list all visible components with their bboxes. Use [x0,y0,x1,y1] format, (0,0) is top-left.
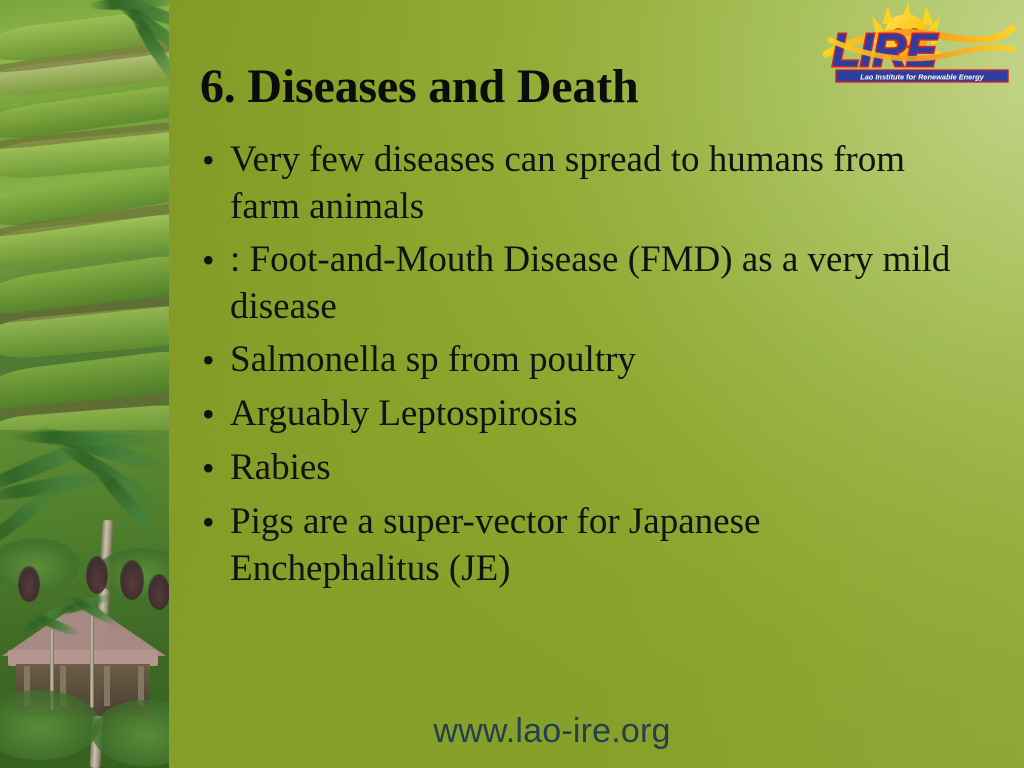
list-item: • : Foot-and-Mouth Disease (FMD) as a ve… [196,236,996,330]
list-item: • Very few diseases can spread to humans… [196,136,996,230]
red-shrub [120,560,144,600]
list-item-text: Arguably Leptospirosis [230,390,960,437]
list-item-text: : Foot-and-Mouth Disease (FMD) as a very… [230,236,960,330]
rice-terrace-photo [0,0,169,768]
presentation-slide: LIRE LIRE Lao Institute for Renewable En… [0,0,1024,768]
list-item-text: Pigs are a super-vector for Japanese Enc… [230,498,960,592]
bullet-marker-icon: • [196,390,230,438]
list-item-text: Very few diseases can spread to humans f… [230,136,960,230]
red-shrub [86,556,108,594]
bullet-marker-icon: • [196,498,230,546]
list-item-text: Salmonella sp from poultry [230,336,960,383]
bullet-marker-icon: • [196,236,230,284]
list-item: • Arguably Leptospirosis [196,390,996,438]
bullet-list: • Very few diseases can spread to humans… [196,136,996,598]
list-item: • Pigs are a super-vector for Japanese E… [196,498,996,592]
red-shrub [18,566,40,602]
bullet-marker-icon: • [196,336,230,384]
list-item: • Salmonella sp from poultry [196,336,996,384]
footer-website-url[interactable]: www.lao-ire.org [0,712,1024,751]
small-palm-trunk [90,616,94,708]
list-item: • Rabies [196,444,996,492]
hut-post [104,666,110,706]
bullet-marker-icon: • [196,444,230,492]
logo-tagline: Lao Institute for Renewable Energy [860,73,984,82]
list-item-text: Rabies [230,444,960,491]
slide-title: 6. Diseases and Death [200,62,860,113]
bullet-marker-icon: • [196,136,230,184]
